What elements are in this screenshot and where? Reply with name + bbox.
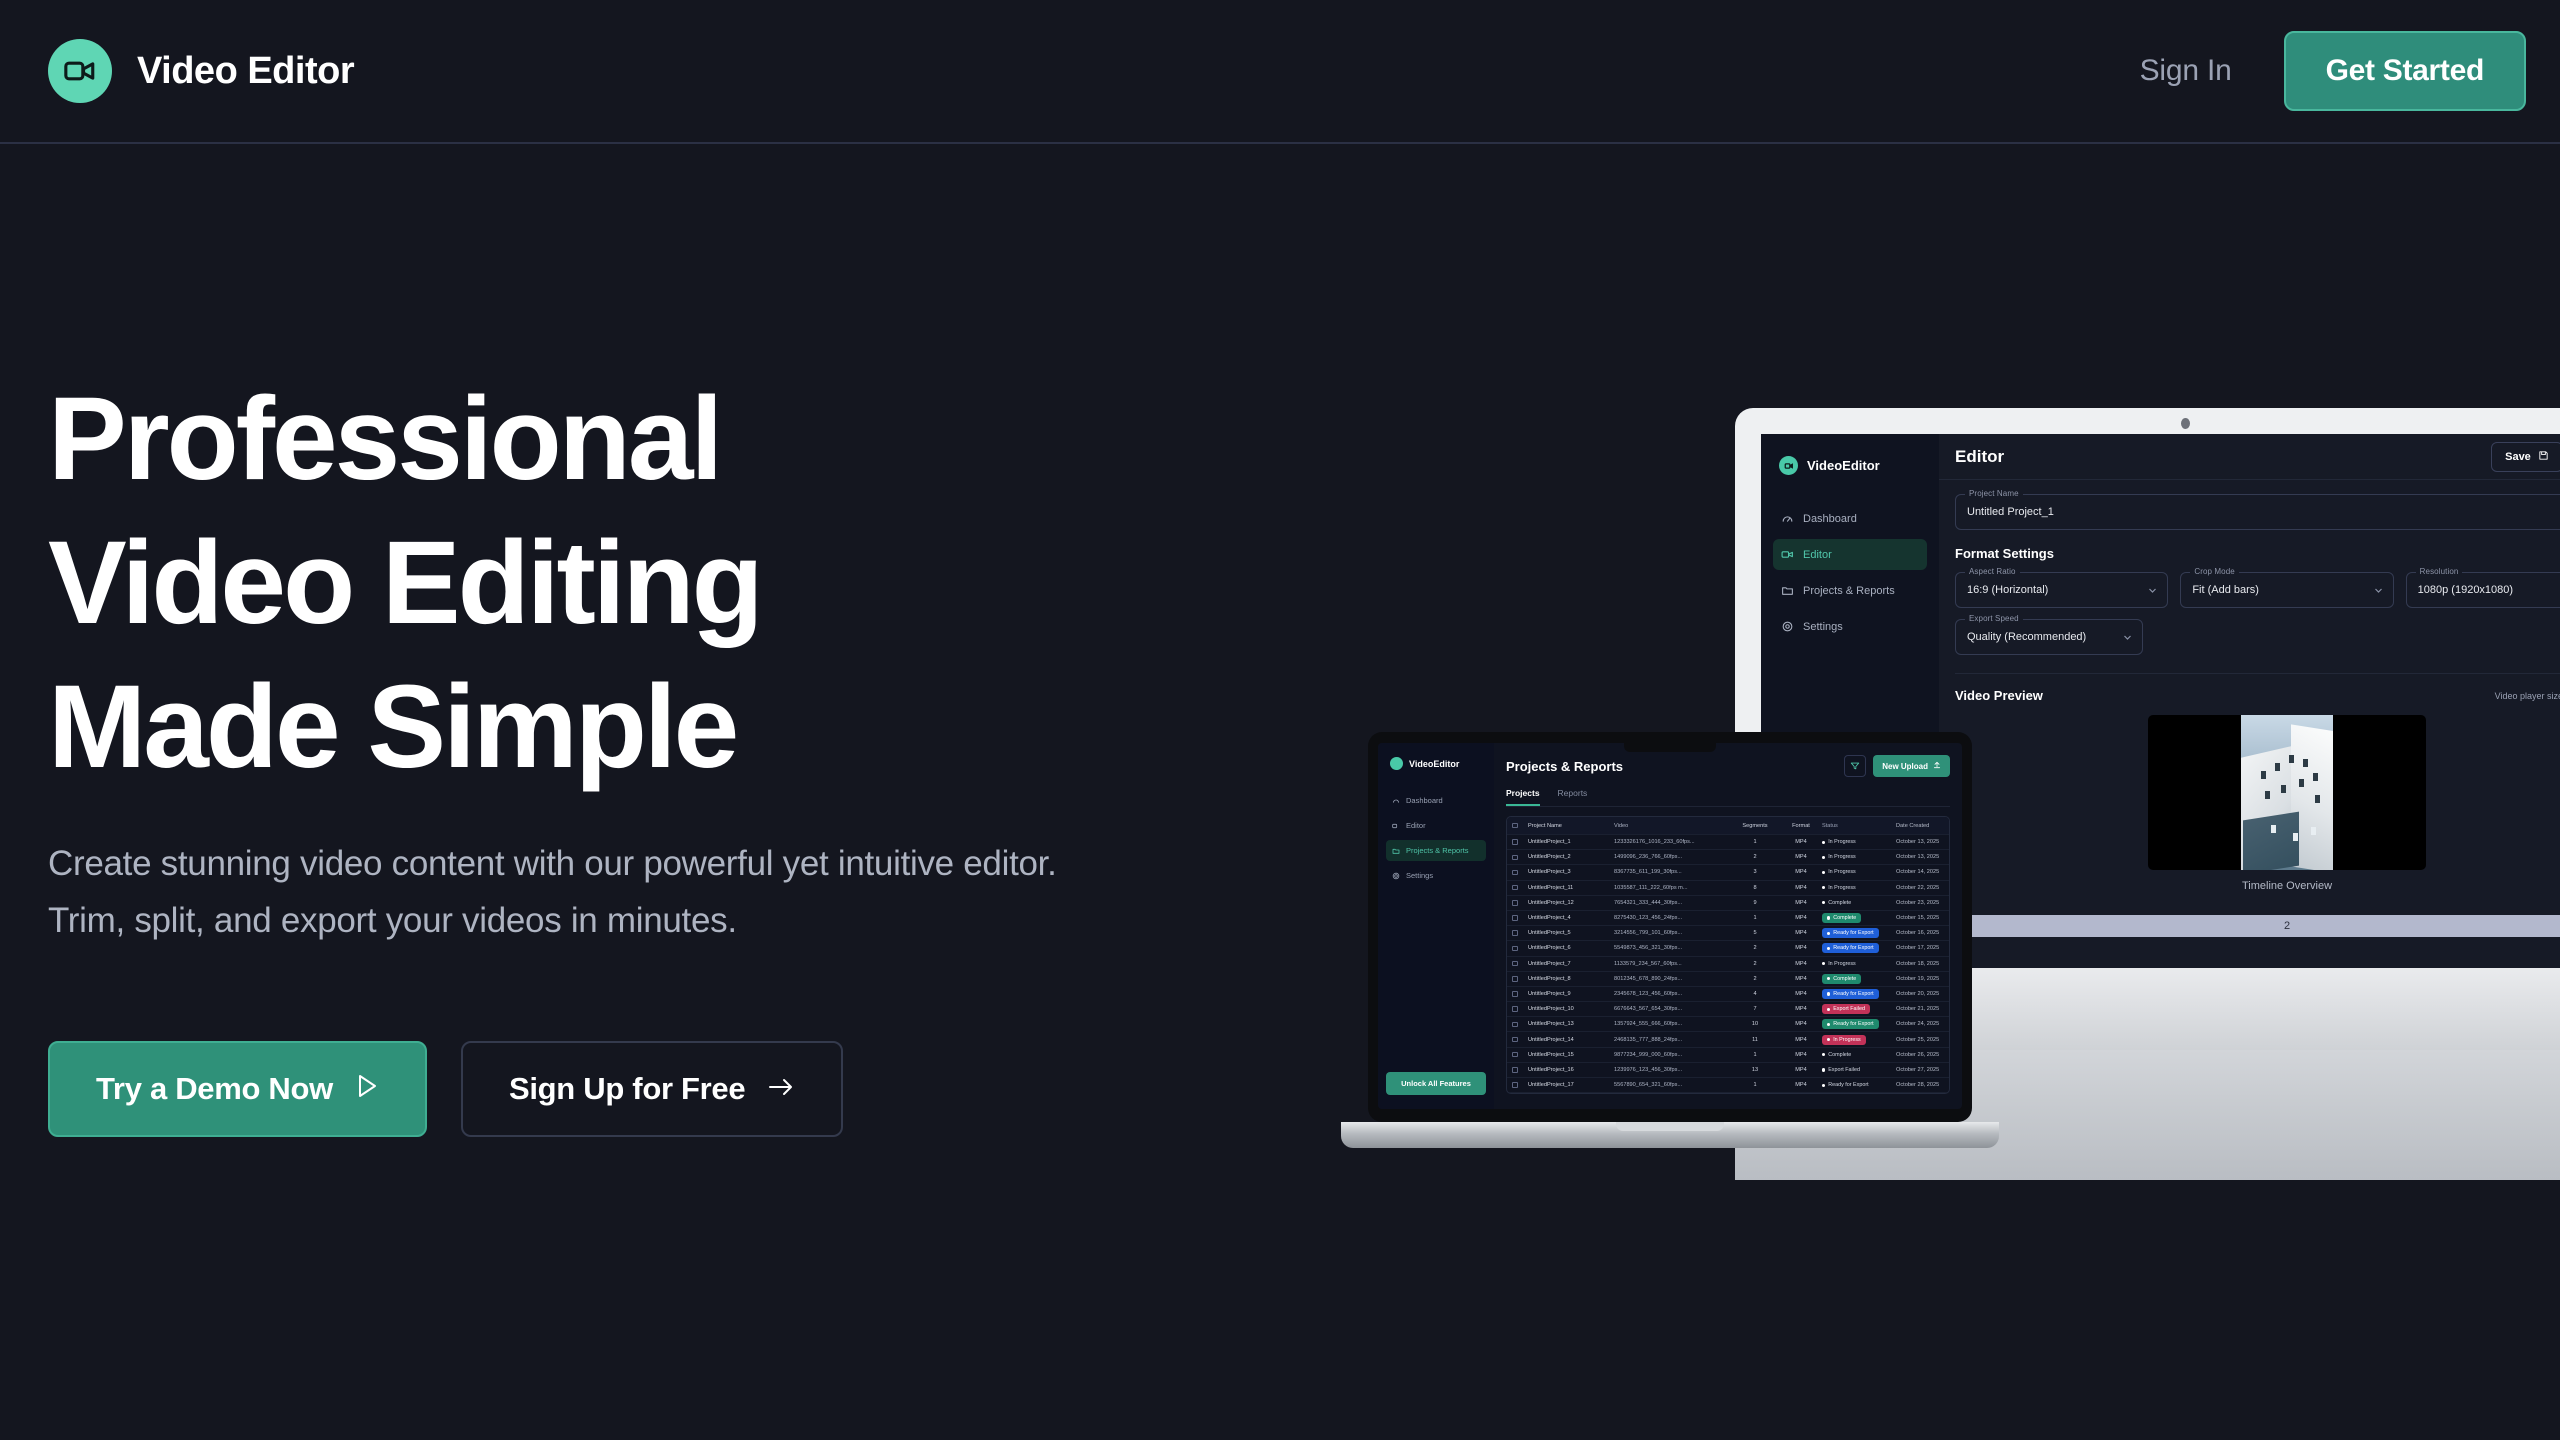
status-badge: Complete xyxy=(1822,898,1856,908)
gear-icon xyxy=(1781,620,1794,633)
sidebar-item-settings[interactable]: Settings xyxy=(1386,865,1486,886)
table-header-row: Project Name Video Segments Format Statu… xyxy=(1507,817,1949,835)
project-name-value: Untitled Project_1 xyxy=(1967,506,2054,518)
row-checkbox[interactable] xyxy=(1512,1067,1528,1073)
table-row[interactable]: UntitledProject_53214556_799_101_60fps..… xyxy=(1507,926,1949,941)
video-preview-title: Video Preview xyxy=(1955,688,2043,703)
cell-segments: 1 xyxy=(1730,1052,1780,1058)
player-size-label: Video player size xyxy=(2495,691,2560,701)
projects-table: Project Name Video Segments Format Statu… xyxy=(1506,816,1950,1094)
laptop-base-notch xyxy=(1616,1122,1724,1131)
status-badge: In Progress xyxy=(1822,883,1861,893)
table-row[interactable]: UntitledProject_38367735_611_199_30fps..… xyxy=(1507,865,1949,880)
format-row-1: Aspect Ratio 16:9 (Horizontal) Crop Mode… xyxy=(1955,572,2560,608)
export-speed-label: Export Speed xyxy=(1965,614,2023,623)
cell-date-created: October 27, 2025 xyxy=(1896,1067,1950,1073)
status-badge: Ready for Export xyxy=(1822,989,1879,999)
table-row[interactable]: UntitledProject_65549873_456_321_30fps..… xyxy=(1507,941,1949,956)
video-camera-icon xyxy=(1392,822,1400,830)
get-started-button[interactable]: Get Started xyxy=(2284,31,2526,111)
sidebar-label: Settings xyxy=(1406,871,1433,880)
laptop-header: Projects & Reports New Upload xyxy=(1506,755,1950,777)
desktop-nav: Dashboard Editor Projects & Reports xyxy=(1773,503,1927,642)
table-body: UntitledProject_11233326176_1016_233_60f… xyxy=(1507,835,1949,1093)
status-badge: Export Failed xyxy=(1822,1065,1865,1075)
video-camera-icon xyxy=(1390,757,1403,770)
laptop-sidebar: VideoEditor Dashboard Editor xyxy=(1378,743,1494,1109)
chevron-down-icon xyxy=(2148,586,2157,595)
row-checkbox[interactable] xyxy=(1512,1037,1528,1043)
cell-segments: 8 xyxy=(1730,885,1780,891)
laptop-lid: VideoEditor Dashboard Editor xyxy=(1368,732,1972,1122)
desktop-main: Editor Save Exp Project Name xyxy=(1939,434,2560,968)
play-triangle-icon xyxy=(355,1071,379,1107)
unlock-all-features-button[interactable]: Unlock All Features xyxy=(1386,1072,1486,1095)
format-row-2: Export Speed Quality (Recommended) xyxy=(1955,619,2560,655)
video-camera-icon xyxy=(48,39,112,103)
arrow-right-icon xyxy=(767,1071,795,1107)
cell-format: MP4 xyxy=(1780,900,1822,906)
status-badge: Ready for Export xyxy=(1822,928,1879,938)
laptop-mockup: VideoEditor Dashboard Editor xyxy=(1368,732,1972,1132)
cell-date-created: October 13, 2025 xyxy=(1896,854,1950,860)
hero-cta-row: Try a Demo Now Sign Up for Free xyxy=(48,1041,1108,1137)
cell-format: MP4 xyxy=(1780,1052,1822,1058)
cell-format: MP4 xyxy=(1780,930,1822,936)
video-player[interactable] xyxy=(2148,715,2426,870)
site-header: Video Editor Sign In Get Started xyxy=(0,0,2560,144)
status-badge: Complete xyxy=(1822,1050,1856,1060)
timeline-overview-label: Timeline Overview xyxy=(1955,880,2560,892)
timeline-value: 2 xyxy=(2284,920,2290,932)
sidebar-label: Projects & Reports xyxy=(1406,846,1469,855)
cell-status: Ready for Export xyxy=(1822,943,1896,953)
cell-video: 1035587_111_222_60fps m... xyxy=(1614,885,1730,891)
player-size-slider[interactable]: Video player size xyxy=(2495,691,2560,701)
row-checkbox[interactable] xyxy=(1512,900,1528,906)
chevron-down-icon xyxy=(2123,633,2132,642)
col-status[interactable]: Status xyxy=(1822,823,1896,829)
aspect-ratio-value: 16:9 (Horizontal) xyxy=(1967,584,2048,596)
cell-project-name: UntitledProject_14 xyxy=(1528,1037,1614,1043)
floppy-disk-icon xyxy=(2538,450,2549,464)
export-speed-value: Quality (Recommended) xyxy=(1967,631,2086,643)
save-label: Save xyxy=(2505,451,2531,463)
row-checkbox[interactable] xyxy=(1512,1022,1528,1028)
laptop-page-title: Projects & Reports xyxy=(1506,759,1623,774)
hero-section: Professional Video Editing Made Simple C… xyxy=(48,380,1108,1137)
cell-date-created: October 17, 2025 xyxy=(1896,945,1950,951)
laptop-header-actions: New Upload xyxy=(1844,755,1950,777)
row-checkbox[interactable] xyxy=(1512,991,1528,997)
cell-segments: 1 xyxy=(1730,1082,1780,1088)
cell-date-created: October 24, 2025 xyxy=(1896,1021,1950,1027)
status-badge: In Progress xyxy=(1822,959,1861,969)
laptop-brand: VideoEditor xyxy=(1386,757,1486,770)
sidebar-item-projects-reports[interactable]: Projects & Reports xyxy=(1773,575,1927,606)
cell-segments: 7 xyxy=(1730,1006,1780,1012)
cell-date-created: October 23, 2025 xyxy=(1896,900,1950,906)
laptop-notch xyxy=(1624,743,1716,752)
gear-icon xyxy=(1392,872,1400,880)
cell-date-created: October 28, 2025 xyxy=(1896,1082,1950,1088)
cell-date-created: October 13, 2025 xyxy=(1896,839,1950,845)
cell-format: MP4 xyxy=(1780,976,1822,982)
cell-segments: 11 xyxy=(1730,1037,1780,1043)
funnel-icon[interactable] xyxy=(1844,755,1866,777)
cell-project-name: UntitledProject_13 xyxy=(1528,1021,1614,1027)
cell-format: MP4 xyxy=(1780,1082,1822,1088)
try-demo-label: Try a Demo Now xyxy=(96,1071,333,1107)
table-row[interactable]: UntitledProject_71133579_234_567_60fps..… xyxy=(1507,957,1949,972)
cell-project-name: UntitledProject_5 xyxy=(1528,930,1614,936)
header-actions: Sign In Get Started xyxy=(2140,31,2526,111)
row-checkbox[interactable] xyxy=(1512,839,1528,845)
row-checkbox[interactable] xyxy=(1512,870,1528,876)
cell-project-name: UntitledProject_6 xyxy=(1528,945,1614,951)
row-checkbox[interactable] xyxy=(1512,1006,1528,1012)
brand-name: Video Editor xyxy=(137,50,354,93)
cell-segments: 9 xyxy=(1730,900,1780,906)
cell-format: MP4 xyxy=(1780,991,1822,997)
cell-format: MP4 xyxy=(1780,1006,1822,1012)
video-camera-icon xyxy=(1781,548,1794,561)
table-row[interactable]: UntitledProject_48275430_123_456_24fps..… xyxy=(1507,911,1949,926)
table-row[interactable]: UntitledProject_106676643_567_654_30fps.… xyxy=(1507,1002,1949,1017)
cell-status: In Progress xyxy=(1822,867,1896,877)
status-badge: Ready for Export xyxy=(1822,1019,1879,1029)
col-format[interactable]: Format xyxy=(1780,823,1822,829)
cell-segments: 1 xyxy=(1730,839,1780,845)
cell-date-created: October 25, 2025 xyxy=(1896,1037,1950,1043)
cell-project-name: UntitledProject_1 xyxy=(1528,839,1614,845)
cell-project-name: UntitledProject_16 xyxy=(1528,1067,1614,1073)
webcam-icon xyxy=(1735,418,2560,429)
headline-line-1: Professional xyxy=(48,380,1108,498)
row-checkbox[interactable] xyxy=(1512,961,1528,967)
gauge-icon xyxy=(1392,797,1400,805)
cell-video: 1233326176_1016_233_60fps... xyxy=(1614,839,1730,845)
col-segments[interactable]: Segments xyxy=(1730,823,1780,829)
desktop-body: Project Name Untitled Project_1 Format S… xyxy=(1939,480,2560,906)
sidebar-label: Editor xyxy=(1803,549,1832,561)
cell-video: 9877234_999_000_60fps... xyxy=(1614,1052,1730,1058)
new-upload-button[interactable]: New Upload xyxy=(1873,755,1950,777)
cell-status: Ready for Export xyxy=(1822,1019,1896,1029)
col-project-name[interactable]: Project Name xyxy=(1528,823,1614,829)
sign-in-link[interactable]: Sign In xyxy=(2140,54,2232,88)
building-base xyxy=(2243,812,2299,870)
cell-format: MP4 xyxy=(1780,854,1822,860)
cell-segments: 4 xyxy=(1730,991,1780,997)
cell-date-created: October 20, 2025 xyxy=(1896,991,1950,997)
cell-format: MP4 xyxy=(1780,915,1822,921)
sidebar-item-settings[interactable]: Settings xyxy=(1773,611,1927,642)
aspect-ratio-label: Aspect Ratio xyxy=(1965,567,2020,576)
cell-date-created: October 26, 2025 xyxy=(1896,1052,1950,1058)
laptop-tabs: Projects Reports xyxy=(1506,788,1950,807)
headline-line-3: Made Simple xyxy=(48,668,1108,786)
resolution-label: Resolution xyxy=(2416,567,2463,576)
cell-format: MP4 xyxy=(1780,945,1822,951)
row-checkbox[interactable] xyxy=(1512,976,1528,982)
sign-up-free-button[interactable]: Sign Up for Free xyxy=(461,1041,843,1137)
brand-logo[interactable]: Video Editor xyxy=(48,39,354,103)
row-checkbox[interactable] xyxy=(1512,855,1528,861)
row-checkbox[interactable] xyxy=(1512,1082,1528,1088)
cell-format: MP4 xyxy=(1780,1067,1822,1073)
cell-project-name: UntitledProject_3 xyxy=(1528,869,1614,875)
table-row[interactable]: UntitledProject_131357924_555_666_60fps.… xyxy=(1507,1017,1949,1032)
desktop-brand-name: VideoEditor xyxy=(1807,458,1880,473)
cell-status: Complete xyxy=(1822,898,1896,908)
cell-status: Ready for Export xyxy=(1822,928,1896,938)
table-row[interactable]: UntitledProject_21499096_236_766_60fps..… xyxy=(1507,850,1949,865)
cell-segments: 2 xyxy=(1730,854,1780,860)
tab-projects[interactable]: Projects xyxy=(1506,788,1540,806)
sidebar-item-editor[interactable]: Editor xyxy=(1773,539,1927,570)
cell-video: 5549873_456_321_30fps... xyxy=(1614,945,1730,951)
desktop-brand: VideoEditor xyxy=(1773,456,1927,475)
video-preview-header: Video Preview Video player size xyxy=(1955,673,2560,703)
cell-segments: 2 xyxy=(1730,961,1780,967)
cell-video: 2345678_123_456_60fps... xyxy=(1614,991,1730,997)
row-checkbox[interactable] xyxy=(1512,946,1528,952)
status-badge: In Progress xyxy=(1822,837,1861,847)
cell-video: 1499096_236_766_60fps... xyxy=(1614,854,1730,860)
table-row[interactable]: UntitledProject_11233326176_1016_233_60f… xyxy=(1507,835,1949,850)
cell-video: 7654321_333_444_30fps... xyxy=(1614,900,1730,906)
save-button[interactable]: Save xyxy=(2491,442,2560,472)
cell-date-created: October 19, 2025 xyxy=(1896,976,1950,982)
status-badge: In Progress xyxy=(1822,867,1861,877)
sidebar-label: Settings xyxy=(1803,621,1843,633)
cell-status: In Progress xyxy=(1822,837,1896,847)
headline-line-2: Video Editing xyxy=(48,524,1108,642)
table-row[interactable]: UntitledProject_92345678_123_456_60fps..… xyxy=(1507,987,1949,1002)
sidebar-item-projects-reports[interactable]: Projects & Reports xyxy=(1386,840,1486,861)
select-all-checkbox[interactable] xyxy=(1512,823,1528,829)
status-badge: In Progress xyxy=(1822,1035,1866,1045)
cell-video: 8275430_123_456_24fps... xyxy=(1614,915,1730,921)
cell-video: 1133579_234_567_60fps... xyxy=(1614,961,1730,967)
sidebar-label: Projects & Reports xyxy=(1803,585,1895,597)
table-row[interactable]: UntitledProject_88012345_678_890_24fps..… xyxy=(1507,972,1949,987)
cell-format: MP4 xyxy=(1780,885,1822,891)
cell-date-created: October 15, 2025 xyxy=(1896,915,1950,921)
cell-segments: 1 xyxy=(1730,915,1780,921)
format-settings-title: Format Settings xyxy=(1955,546,2560,561)
cell-project-name: UntitledProject_17 xyxy=(1528,1082,1614,1088)
cell-date-created: October 18, 2025 xyxy=(1896,961,1950,967)
cell-project-name: UntitledProject_11 xyxy=(1528,885,1614,891)
cell-video: 2468135_777_888_24fps... xyxy=(1614,1037,1730,1043)
video-frame-image xyxy=(2241,715,2333,870)
cell-status: In Progress xyxy=(1822,852,1896,862)
laptop-main: Projects & Reports New Upload xyxy=(1494,743,1962,1109)
table-row[interactable]: UntitledProject_142468135_777_888_24fps.… xyxy=(1507,1032,1949,1047)
cell-project-name: UntitledProject_7 xyxy=(1528,961,1614,967)
table-row[interactable]: UntitledProject_161239976_123_456_30fps.… xyxy=(1507,1063,1949,1078)
sign-up-label: Sign Up for Free xyxy=(509,1071,745,1107)
row-checkbox[interactable] xyxy=(1512,1052,1528,1058)
cell-status: In Progress xyxy=(1822,1035,1896,1045)
sidebar-item-editor[interactable]: Editor xyxy=(1386,815,1486,836)
cell-status: Ready for Export xyxy=(1822,989,1896,999)
cell-segments: 2 xyxy=(1730,945,1780,951)
cell-project-name: UntitledProject_9 xyxy=(1528,991,1614,997)
cell-project-name: UntitledProject_10 xyxy=(1528,1006,1614,1012)
table-row[interactable]: UntitledProject_111035587_111_222_60fps … xyxy=(1507,881,1949,896)
project-name-label: Project Name xyxy=(1965,489,2023,498)
cell-status: In Progress xyxy=(1822,959,1896,969)
video-camera-icon xyxy=(1779,456,1798,475)
desktop-topbar: Editor Save Exp xyxy=(1939,434,2560,480)
cell-date-created: October 14, 2025 xyxy=(1896,869,1950,875)
cell-date-created: October 22, 2025 xyxy=(1896,885,1950,891)
cell-segments: 2 xyxy=(1730,976,1780,982)
col-video[interactable]: Video xyxy=(1614,823,1730,829)
status-badge: Ready for Export xyxy=(1822,1080,1874,1090)
sidebar-label: Dashboard xyxy=(1803,513,1857,525)
desktop-topbar-actions: Save Exp xyxy=(2491,442,2560,472)
cell-status: Export Failed xyxy=(1822,1004,1896,1014)
cell-format: MP4 xyxy=(1780,961,1822,967)
new-upload-label: New Upload xyxy=(1882,762,1928,771)
cell-format: MP4 xyxy=(1780,869,1822,875)
cell-segments: 13 xyxy=(1730,1067,1780,1073)
hero-headline: Professional Video Editing Made Simple xyxy=(48,380,1108,786)
resolution-select[interactable]: Resolution 1080p (1920x1080) xyxy=(2406,572,2560,608)
try-demo-button[interactable]: Try a Demo Now xyxy=(48,1041,427,1137)
laptop-screen: VideoEditor Dashboard Editor xyxy=(1378,743,1962,1109)
cell-status: Ready for Export xyxy=(1822,1080,1896,1090)
cell-segments: 10 xyxy=(1730,1021,1780,1027)
laptop-brand-name: VideoEditor xyxy=(1409,759,1459,769)
cell-project-name: UntitledProject_8 xyxy=(1528,976,1614,982)
sidebar-item-dashboard[interactable]: Dashboard xyxy=(1773,503,1927,534)
cell-video: 3214556_799_101_60fps... xyxy=(1614,930,1730,936)
upload-icon xyxy=(1933,761,1941,771)
cell-segments: 5 xyxy=(1730,930,1780,936)
crop-mode-value: Fit (Add bars) xyxy=(2192,584,2259,596)
cell-video: 8012345_678_890_24fps... xyxy=(1614,976,1730,982)
cell-project-name: UntitledProject_2 xyxy=(1528,854,1614,860)
cell-status: Complete xyxy=(1822,1050,1896,1060)
tab-reports[interactable]: Reports xyxy=(1558,788,1588,806)
cell-status: Complete xyxy=(1822,913,1896,923)
cell-date-created: October 21, 2025 xyxy=(1896,1006,1950,1012)
row-checkbox[interactable] xyxy=(1512,930,1528,936)
table-row[interactable]: UntitledProject_175567890_654_321_60fps.… xyxy=(1507,1078,1949,1093)
export-speed-select[interactable]: Export Speed Quality (Recommended) xyxy=(1955,619,2143,655)
cell-project-name: UntitledProject_4 xyxy=(1528,915,1614,921)
cell-project-name: UntitledProject_15 xyxy=(1528,1052,1614,1058)
status-badge: In Progress xyxy=(1822,852,1861,862)
folder-icon xyxy=(1392,847,1400,855)
status-badge: Complete xyxy=(1822,913,1861,923)
gauge-icon xyxy=(1781,512,1794,525)
sidebar-label: Dashboard xyxy=(1406,796,1443,805)
chevron-down-icon xyxy=(2374,586,2383,595)
cell-video: 8367735_611_199_30fps... xyxy=(1614,869,1730,875)
laptop-nav: Dashboard Editor Projects & Reports xyxy=(1386,790,1486,886)
cell-status: Export Failed xyxy=(1822,1065,1896,1075)
aspect-ratio-select[interactable]: Aspect Ratio 16:9 (Horizontal) xyxy=(1955,572,2168,608)
row-checkbox[interactable] xyxy=(1512,915,1528,921)
crop-mode-label: Crop Mode xyxy=(2190,567,2238,576)
cell-format: MP4 xyxy=(1780,1037,1822,1043)
cell-segments: 3 xyxy=(1730,869,1780,875)
table-row[interactable]: UntitledProject_159877234_999_000_60fps.… xyxy=(1507,1048,1949,1063)
hero-subtitle: Create stunning video content with our p… xyxy=(48,836,1108,949)
cell-date-created: October 16, 2025 xyxy=(1896,930,1950,936)
cell-status: In Progress xyxy=(1822,883,1896,893)
cell-video: 6676643_567_654_30fps... xyxy=(1614,1006,1730,1012)
cell-format: MP4 xyxy=(1780,839,1822,845)
table-row[interactable]: UntitledProject_127654321_333_444_30fps.… xyxy=(1507,896,1949,911)
cell-status: Complete xyxy=(1822,974,1896,984)
cell-video: 1239976_123_456_30fps... xyxy=(1614,1067,1730,1073)
col-date-created[interactable]: Date Created xyxy=(1896,823,1950,829)
resolution-value: 1080p (1920x1080) xyxy=(2418,584,2513,596)
cell-format: MP4 xyxy=(1780,1021,1822,1027)
project-name-field[interactable]: Project Name Untitled Project_1 xyxy=(1955,494,2560,530)
cell-video: 1357924_555_666_60fps... xyxy=(1614,1021,1730,1027)
laptop-base xyxy=(1341,1122,1999,1148)
status-badge: Complete xyxy=(1822,974,1861,984)
crop-mode-select[interactable]: Crop Mode Fit (Add bars) xyxy=(2180,572,2393,608)
folder-icon xyxy=(1781,584,1794,597)
cell-video: 5567890_654_321_60fps... xyxy=(1614,1082,1730,1088)
sidebar-label: Editor xyxy=(1406,821,1426,830)
desktop-page-title: Editor xyxy=(1955,447,2004,467)
timeline-bar[interactable]: 2 xyxy=(1939,915,2560,937)
sidebar-item-dashboard[interactable]: Dashboard xyxy=(1386,790,1486,811)
status-badge: Ready for Export xyxy=(1822,943,1879,953)
status-badge: Export Failed xyxy=(1822,1004,1870,1014)
cell-project-name: UntitledProject_12 xyxy=(1528,900,1614,906)
row-checkbox[interactable] xyxy=(1512,885,1528,891)
